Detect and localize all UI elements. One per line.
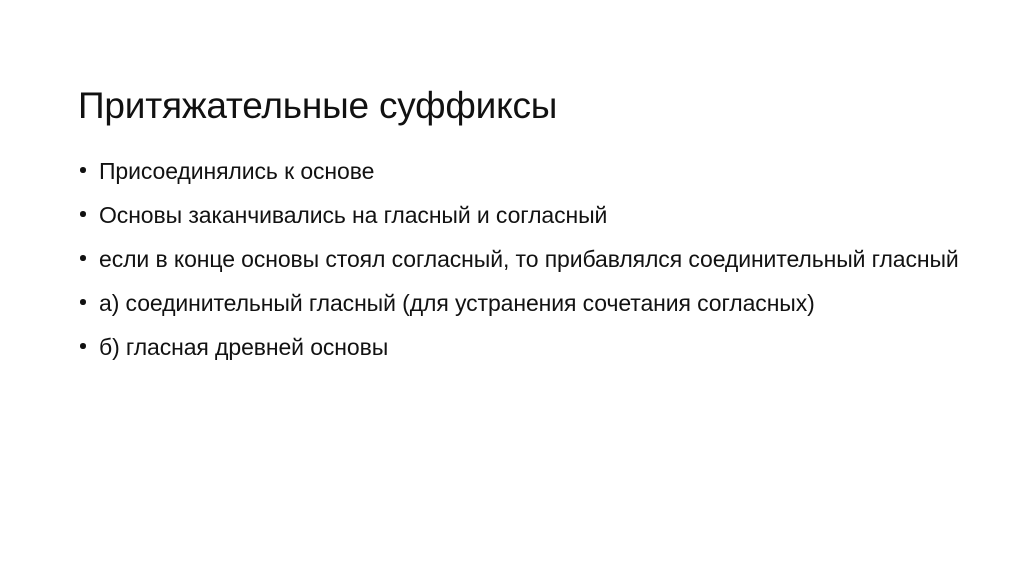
- bullet-dot-icon: [80, 211, 86, 217]
- bullet-dot-icon: [80, 167, 86, 173]
- list-item-label: б) гласная древней основы: [99, 332, 968, 362]
- list-item: Присоединялись к основе: [78, 156, 968, 186]
- list-item-label: если в конце основы стоял согласный, то …: [99, 244, 968, 274]
- bullet-dot-icon: [80, 343, 86, 349]
- bullet-dot-icon: [80, 299, 86, 305]
- page-title: Притяжательные суффиксы: [78, 83, 958, 129]
- list-item-label: а) соединительный гласный (для устранени…: [99, 288, 968, 318]
- bullet-list: Присоединялись к основе Основы заканчива…: [78, 156, 968, 362]
- list-item: Основы заканчивались на гласный и соглас…: [78, 200, 968, 230]
- list-item: а) соединительный гласный (для устранени…: [78, 288, 968, 318]
- list-item-label: Присоединялись к основе: [99, 156, 968, 186]
- list-item-label: Основы заканчивались на гласный и соглас…: [99, 200, 968, 230]
- slide-canvas: Притяжательные суффиксы Присоединялись к…: [0, 0, 1024, 576]
- list-item: если в конце основы стоял согласный, то …: [78, 244, 968, 274]
- bullet-dot-icon: [80, 255, 86, 261]
- list-item: б) гласная древней основы: [78, 332, 968, 362]
